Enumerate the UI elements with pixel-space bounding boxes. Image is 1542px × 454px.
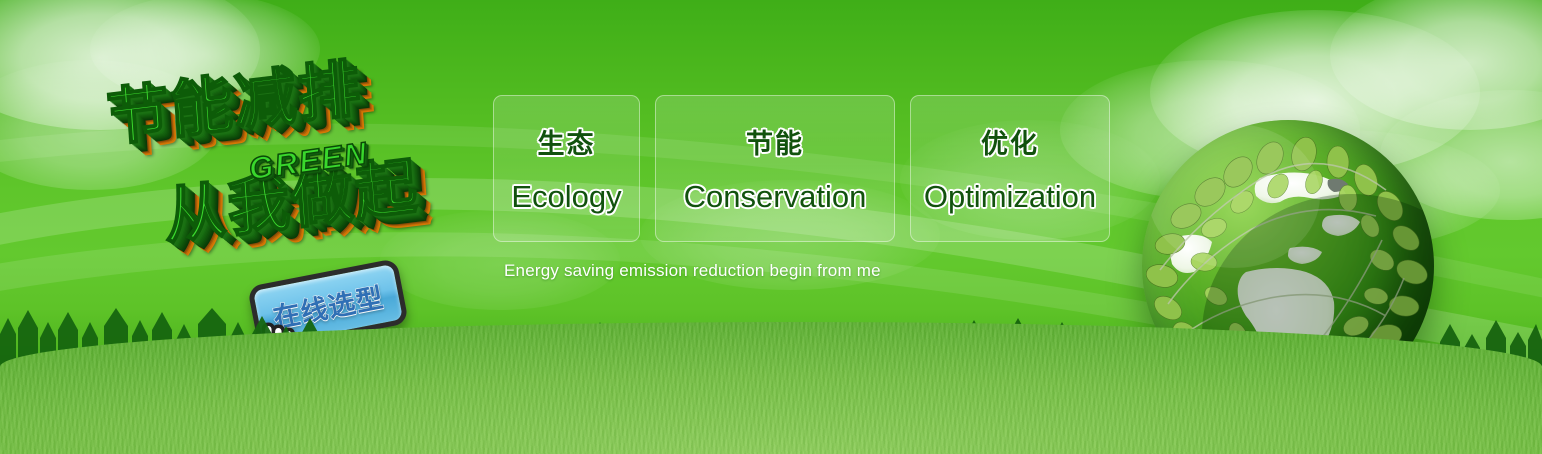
feature-card-title-en: Optimization bbox=[924, 179, 1096, 215]
feature-card-optimization[interactable]: 优化 Optimization bbox=[910, 95, 1110, 242]
feature-card-title-en: Conservation bbox=[684, 179, 867, 215]
feature-card-ecology[interactable]: 生态 Ecology bbox=[493, 95, 640, 242]
feature-card-title-cn: 生态 bbox=[538, 122, 596, 161]
feature-card-title-cn: 优化 bbox=[981, 122, 1039, 161]
feature-card-conservation[interactable]: 节能 Conservation bbox=[655, 95, 895, 242]
eco-hero-banner: 节能减排 GREEN 从我做起 在线选型 生态 Ecology 节能 Conse… bbox=[0, 0, 1542, 454]
feature-card-title-cn: 节能 bbox=[746, 122, 804, 161]
cloud-icon bbox=[1330, 0, 1542, 130]
grass-field-icon bbox=[0, 322, 1542, 454]
feature-card-title-en: Ecology bbox=[511, 179, 621, 215]
banner-tagline: Energy saving emission reduction begin f… bbox=[504, 261, 881, 281]
headline-3d: 节能减排 GREEN 从我做起 bbox=[92, 24, 507, 281]
feature-card-list: 生态 Ecology 节能 Conservation 优化 Optimizati… bbox=[493, 95, 1110, 242]
